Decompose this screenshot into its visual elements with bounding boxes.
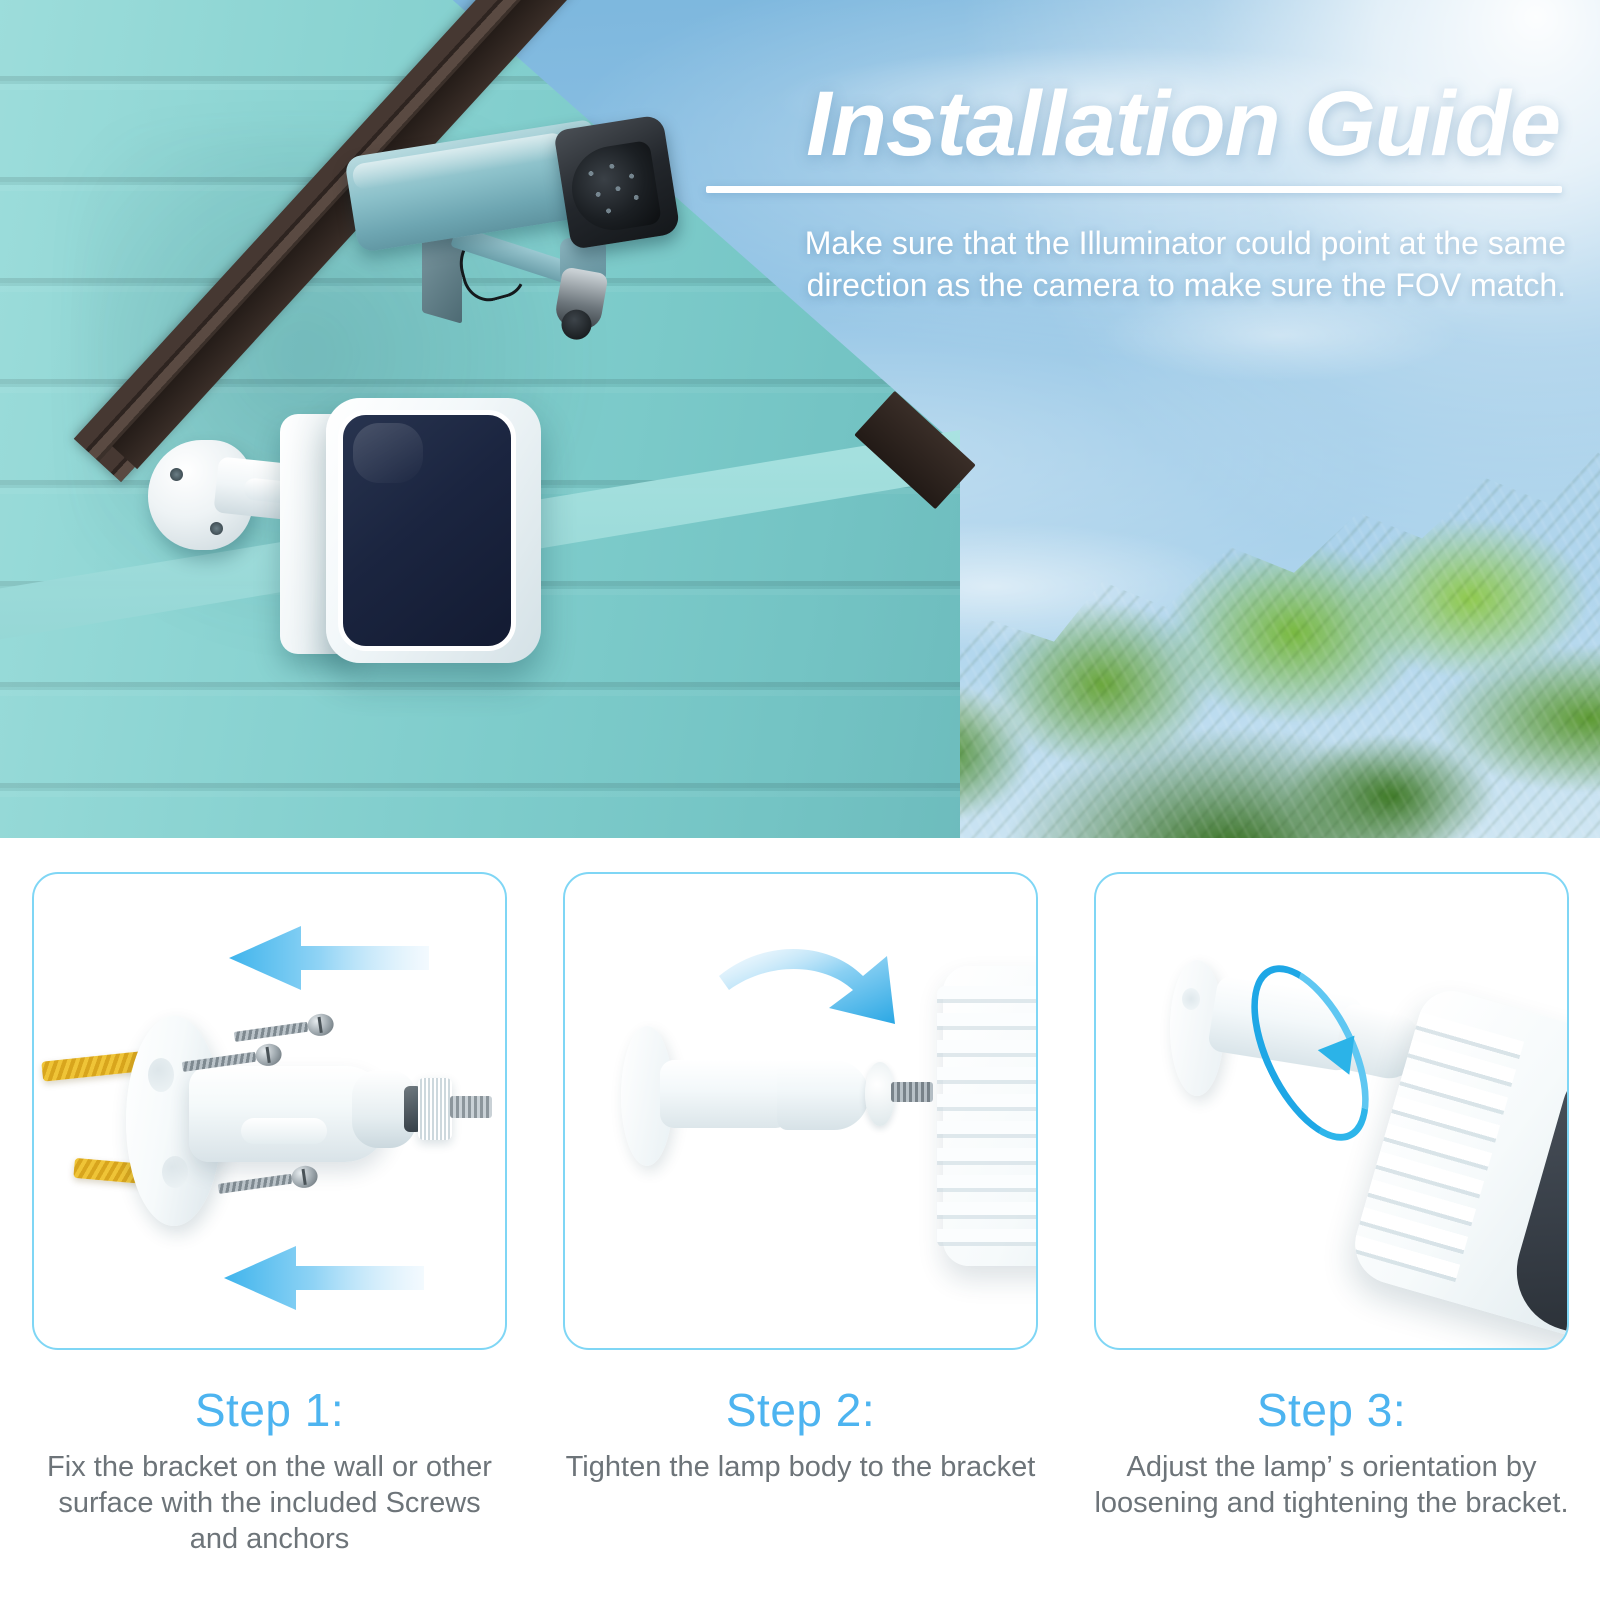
bullet-camera [310, 120, 710, 390]
camera-ir-leds [577, 151, 650, 224]
bracket-neck [660, 1060, 790, 1128]
screw-shaft [234, 1022, 309, 1042]
curved-arrow-right-icon [717, 946, 917, 1042]
step-2-illustration-panel [563, 872, 1038, 1350]
step-3-caption: Step 3: Adjust the lamp’ s orientation b… [1094, 1386, 1569, 1522]
page-title: Installation Guide [700, 78, 1560, 170]
title-underline [706, 186, 1562, 193]
step-3: Step 3: Adjust the lamp’ s orientation b… [1094, 872, 1569, 1558]
step-3-illustration-panel [1094, 872, 1569, 1350]
bracket-cone [777, 1060, 869, 1130]
step-3-title: Step 3: [1094, 1386, 1569, 1434]
installation-guide-page: Installation Guide Make sure that the Il… [0, 0, 1600, 1600]
illuminator-lamp [130, 390, 550, 690]
step-2-caption: Step 2: Tighten the lamp body to the bra… [563, 1386, 1038, 1486]
lamp-head [326, 398, 541, 663]
hero-photo: Installation Guide Make sure that the Il… [0, 0, 1600, 838]
step-2-body: Tighten the lamp body to the bracket [563, 1450, 1038, 1486]
step-2: Step 2: Tighten the lamp body to the bra… [563, 872, 1038, 1558]
lamp-lens-panel [1503, 1060, 1569, 1341]
arrow-left-icon [229, 926, 429, 990]
steps-row: Step 1: Fix the bracket on the wall or o… [32, 872, 1568, 1558]
hero-subtitle: Make sure that the Illuminator could poi… [700, 222, 1566, 306]
step-3-body: Adjust the lamp’ s orientation by loosen… [1094, 1450, 1569, 1522]
step-1-caption: Step 1: Fix the bracket on the wall or o… [32, 1386, 507, 1558]
bracket-threaded-pin [891, 1082, 933, 1102]
screw-shaft [218, 1174, 293, 1194]
threaded-bolt [450, 1096, 492, 1118]
step-1: Step 1: Fix the bracket on the wall or o… [32, 872, 507, 1558]
mounting-screw [233, 1015, 334, 1045]
camera-joint [553, 266, 608, 331]
knurled-nut [418, 1078, 452, 1140]
lamp-lens-panel [338, 410, 516, 651]
step-1-illustration-panel [32, 872, 507, 1350]
mounting-screw [217, 1167, 318, 1197]
step-1-title: Step 1: [32, 1386, 507, 1434]
screw-head [254, 1042, 283, 1067]
step-2-title: Step 2: [563, 1386, 1038, 1434]
lamp-heatsink-fins [937, 986, 1038, 1248]
screw-head [306, 1012, 335, 1037]
step-1-body: Fix the bracket on the wall or other sur… [32, 1450, 507, 1558]
steps-section: Step 1: Fix the bracket on the wall or o… [0, 838, 1600, 1600]
arrow-left-icon [224, 1246, 424, 1310]
screw-head [290, 1164, 319, 1189]
